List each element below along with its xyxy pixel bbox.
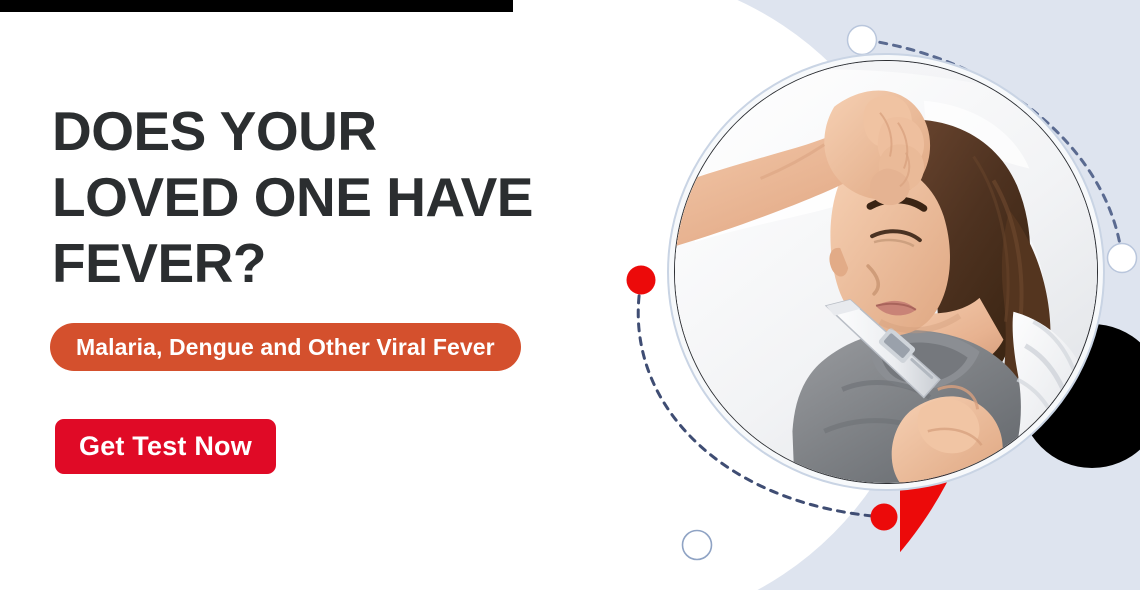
cta-label: Get Test Now bbox=[79, 431, 252, 462]
red-dot-bottom bbox=[871, 504, 898, 531]
patient-photo bbox=[674, 60, 1098, 484]
subtitle-label: Malaria, Dengue and Other Viral Fever bbox=[76, 334, 495, 361]
top-black-bar bbox=[0, 0, 513, 12]
fever-patient-illustration bbox=[675, 61, 1097, 483]
headline-block: DOES YOUR LOVED ONE HAVE FEVER? bbox=[52, 98, 612, 296]
get-test-now-button[interactable]: Get Test Now bbox=[55, 419, 276, 474]
fever-test-promo-banner: DOES YOUR LOVED ONE HAVE FEVER? Malaria,… bbox=[0, 0, 1140, 590]
red-dot-left bbox=[627, 266, 656, 295]
subtitle-badge: Malaria, Dengue and Other Viral Fever bbox=[50, 323, 521, 371]
page-title: DOES YOUR LOVED ONE HAVE FEVER? bbox=[52, 98, 612, 296]
white-dot-right bbox=[1108, 244, 1137, 273]
white-dot-top bbox=[848, 26, 877, 55]
